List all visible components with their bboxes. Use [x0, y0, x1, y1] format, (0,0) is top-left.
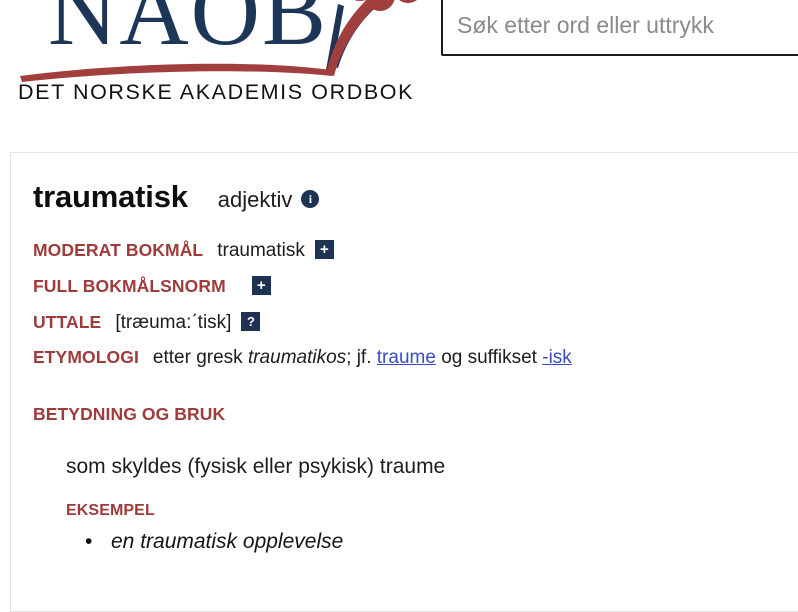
site-logo[interactable]: NAOB DET NORSKE AKADEMIS ORDBOK [8, 0, 428, 116]
etymology-link-isk[interactable]: -isk [542, 347, 572, 368]
definition-text: som skyldes (fysisk eller psykisk) traum… [66, 455, 788, 479]
inflection-label-moderat: MODERAT BOKMÅL [33, 240, 203, 262]
inflection-label-full: FULL BOKMÅLSNORM [33, 276, 226, 298]
inflection-row-full: FULL BOKMÅLSNORM + [33, 276, 788, 298]
info-icon[interactable]: i [301, 190, 319, 208]
example-list: • en traumatisk opplevelse [33, 528, 788, 555]
section-title-meaning: BETYDNING OG BRUK [33, 404, 788, 425]
inflection-value-moderat: traumatisk [217, 239, 305, 263]
list-item: • en traumatisk opplevelse [111, 528, 788, 555]
etymology-source-word: traumatikos [248, 347, 346, 368]
etymology-row: ETYMOLOGI etter gresk traumatikos; jf. t… [33, 346, 788, 370]
naob-logo-graphic: NAOB DET NORSKE AKADEMIS ORDBOK [8, 0, 428, 116]
svg-text:NAOB: NAOB [48, 0, 328, 65]
example-text: en traumatisk opplevelse [111, 530, 343, 553]
pronunciation-help-button[interactable]: ? [241, 312, 260, 331]
example-label: EKSEMPEL [66, 502, 788, 520]
etymology-middle: ; jf. [346, 347, 377, 368]
inflection-row-moderat: MODERAT BOKMÅL traumatisk + [33, 239, 788, 263]
headword-row: traumatisk adjektiv i [33, 179, 788, 215]
site-header: NAOB DET NORSKE AKADEMIS ORDBOK [0, 0, 798, 128]
expand-inflection-full-button[interactable]: + [252, 276, 271, 295]
search-input[interactable] [441, 0, 798, 56]
wordclass-label: adjektiv [218, 187, 293, 213]
dictionary-entry-card: traumatisk adjektiv i MODERAT BOKMÅL tra… [10, 152, 798, 612]
wordclass-group: adjektiv i [218, 187, 320, 213]
etymology-prefix: etter gresk [153, 347, 248, 368]
search-box[interactable] [441, 0, 798, 56]
pronunciation-row: UTTALE [træuma:ˊtisk] ? [33, 311, 788, 335]
expand-inflection-moderat-button[interactable]: + [315, 240, 334, 259]
pronunciation-label: UTTALE [33, 312, 101, 334]
pronunciation-value: [træuma:ˊtisk] [115, 311, 231, 335]
etymology-link-traume[interactable]: traume [377, 347, 436, 368]
etymology-text: etter gresk traumatikos; jf. traume og s… [153, 346, 572, 370]
etymology-conjunction: og suffikset [436, 347, 542, 368]
site-tagline: DET NORSKE AKADEMIS ORDBOK [18, 80, 414, 104]
page-title: traumatisk [33, 179, 188, 215]
bullet-icon: • [85, 528, 92, 555]
etymology-label: ETYMOLOGI [33, 347, 139, 369]
